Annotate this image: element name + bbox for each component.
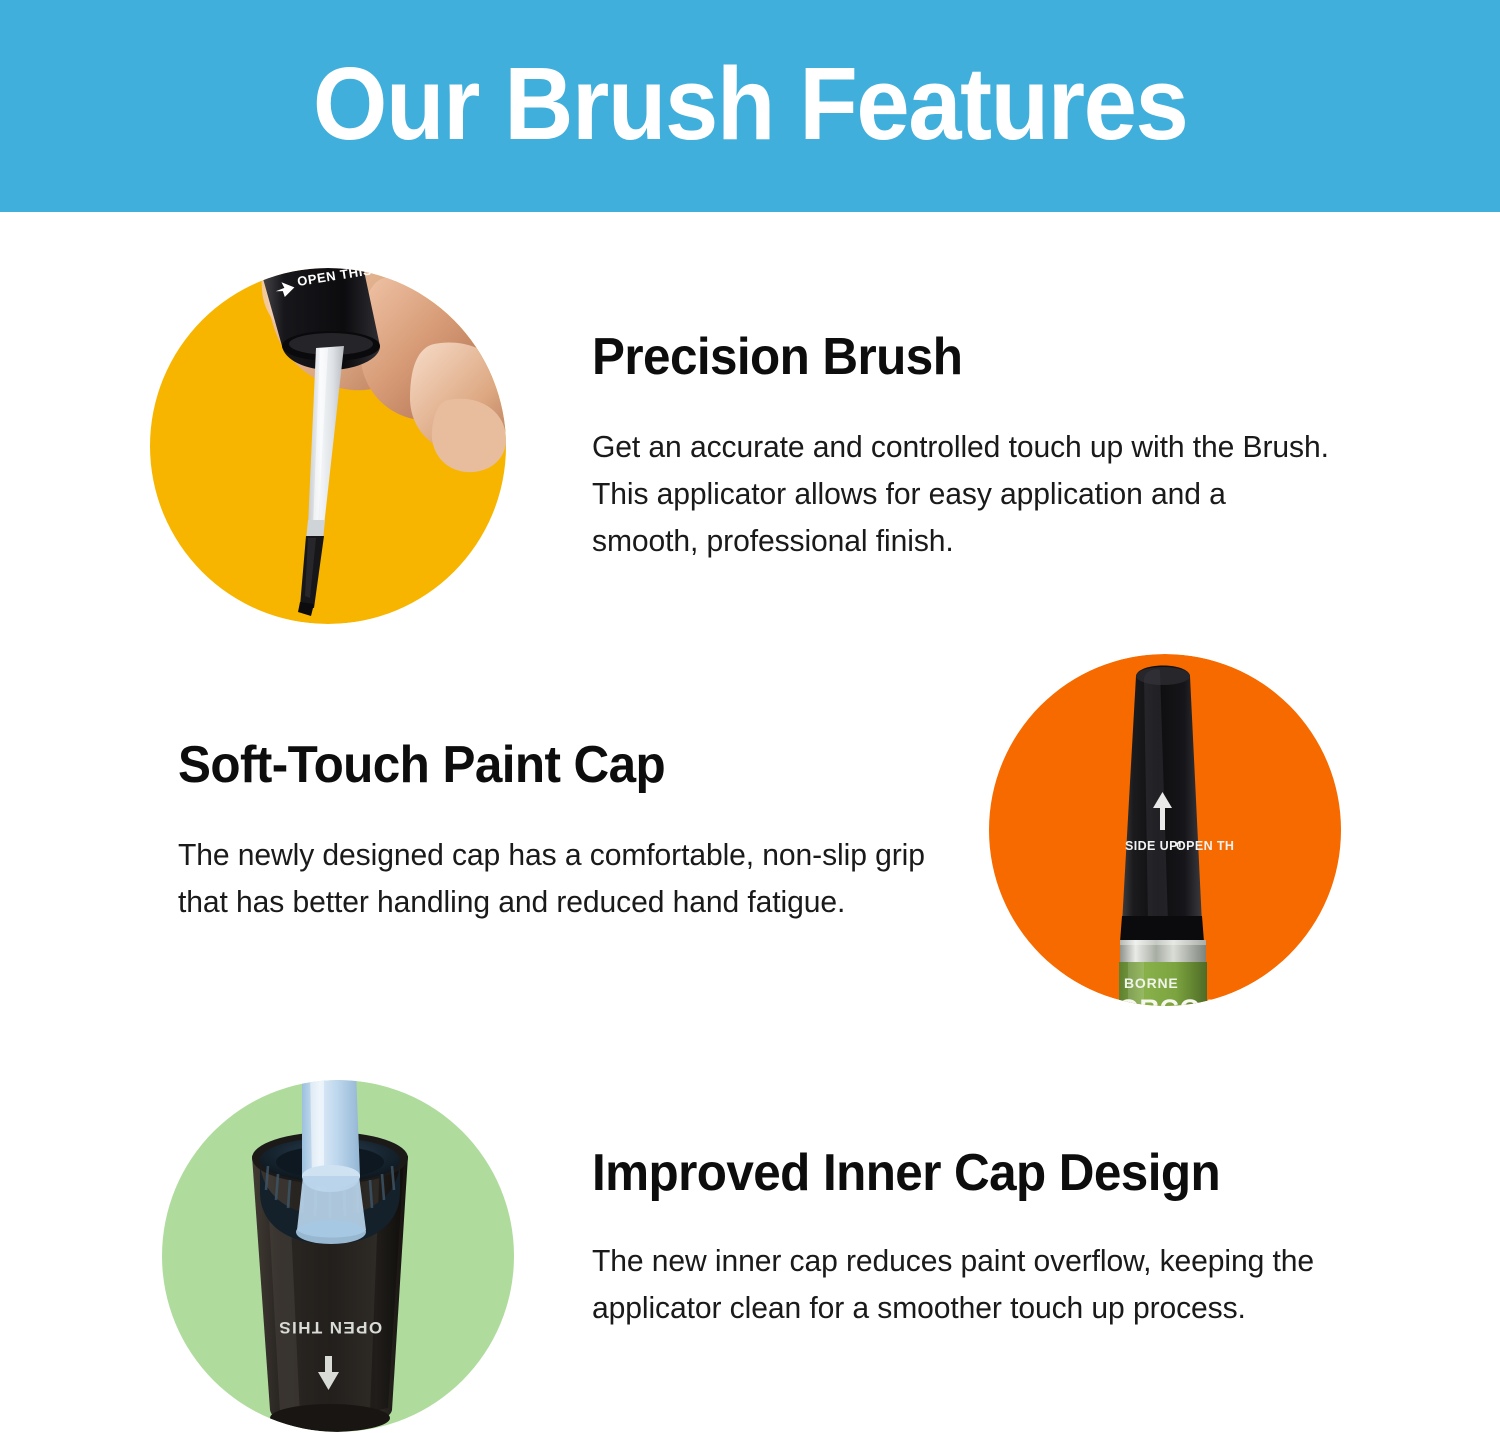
page-title: Our Brush Features xyxy=(313,52,1187,161)
bottle-label-line-2: ORCOAT xyxy=(1118,994,1236,1006)
feature-body: The new inner cap reduces paint overflow… xyxy=(592,1237,1329,1331)
feature-copy-improved-inner-cap-design: Improved Inner Cap Design The new inner … xyxy=(592,1146,1352,1331)
bottle-label-line-1: BORNE xyxy=(1124,975,1179,991)
cap-label-side-up: SIDE UP! xyxy=(1125,839,1182,853)
feature-copy-precision-brush: Precision Brush Get an accurate and cont… xyxy=(592,330,1352,564)
feature-image-improved-inner-cap-design: OPEN THIS xyxy=(160,1080,516,1432)
feature-title: Precision Brush xyxy=(592,330,1314,385)
header-banner: Our Brush Features xyxy=(0,0,1500,212)
feature-body: Get an accurate and controlled touch up … xyxy=(592,423,1329,564)
feature-title: Improved Inner Cap Design xyxy=(592,1146,1314,1201)
feature-image-precision-brush: OPEN THIS xyxy=(148,268,508,624)
feature-section-improved-inner-cap-design: OPEN THIS Improved Inner Cap Design The … xyxy=(0,1060,1500,1433)
feature-body: The newly designed cap has a comfortable… xyxy=(178,831,925,925)
cap-label-text: OPEN THIS xyxy=(278,1318,382,1337)
applicator-tube xyxy=(296,1080,366,1244)
feature-image-soft-touch-paint-cap: SIDE UP! OPEN TH BORNE ORCOAT xyxy=(988,654,1342,1006)
feature-section-soft-touch-paint-cap: Soft-Touch Paint Cap The newly designed … xyxy=(0,640,1500,1020)
feature-copy-soft-touch-paint-cap: Soft-Touch Paint Cap The newly designed … xyxy=(178,738,948,925)
feature-section-precision-brush: OPEN THIS xyxy=(0,212,1500,652)
infographic-page: Our Brush Features xyxy=(0,0,1500,1433)
cap-label-open-this: OPEN TH xyxy=(1176,839,1234,853)
feature-title: Soft-Touch Paint Cap xyxy=(178,738,910,793)
